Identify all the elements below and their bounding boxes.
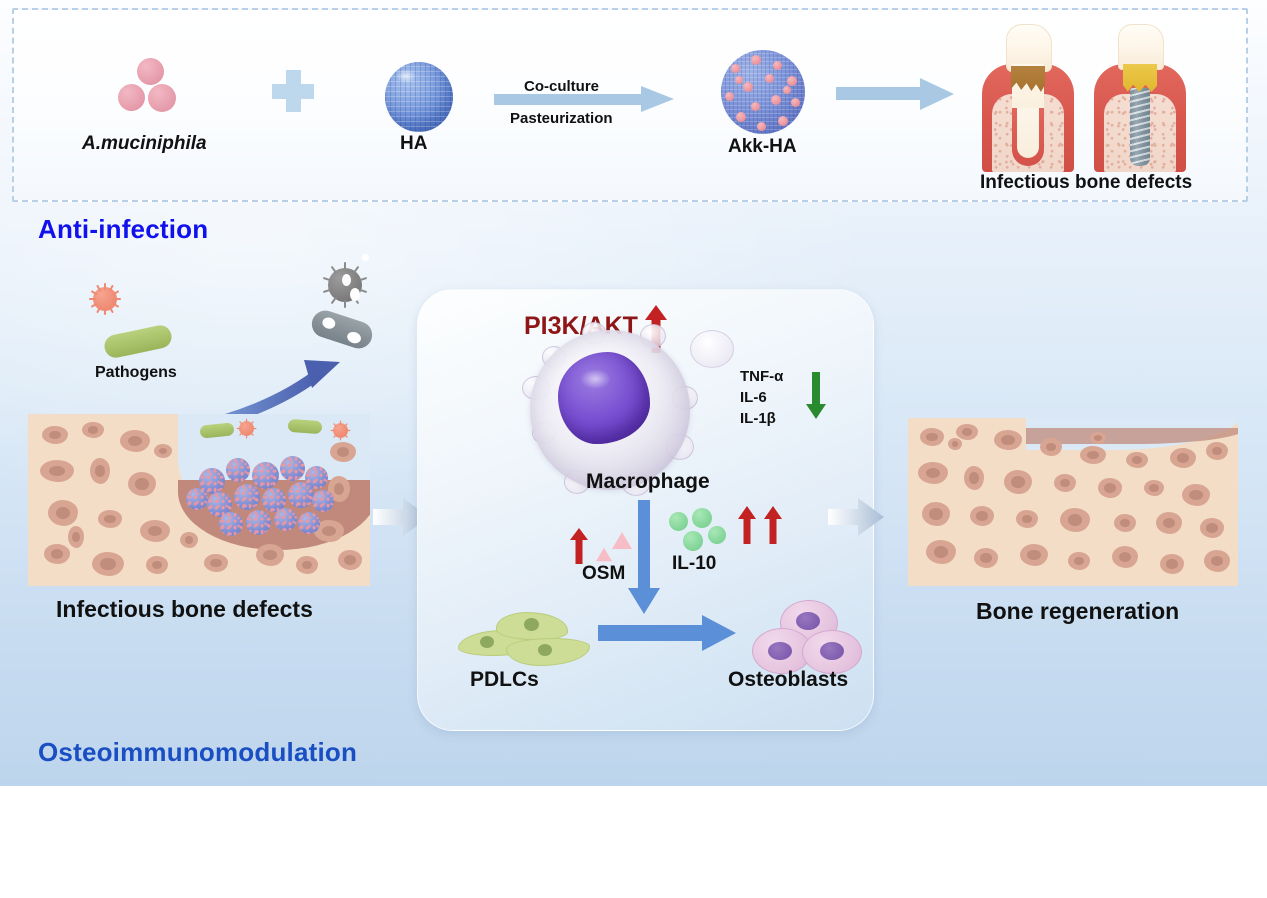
il10-up-arrow-icon [764,506,782,544]
akk-ha-particle-icon [721,50,805,134]
implant-abutment-shape [1123,64,1157,92]
tooth-root-shape [1017,102,1039,158]
osm-up-arrow-icon [570,528,588,564]
cytokine-tnf-alpha: TNF-α [740,366,806,387]
il10-up-arrow-icon [738,506,756,544]
implant-crown-shape [1118,24,1164,70]
plus-icon [272,70,314,112]
il10-label: IL-10 [672,553,716,575]
macrophage-label: Macrophage [586,470,710,494]
il10-molecule-icon [683,531,703,551]
cytokine-il-1beta: IL-1β [740,408,806,429]
pasteurization-label: Pasteurization [510,110,613,127]
section-label-anti-infection: Anti-infection [38,214,208,245]
differentiation-arrow-icon [598,615,740,651]
macrophage-icon [530,330,690,490]
virus-pathogen-icon [236,418,257,439]
osm-label: OSM [582,563,625,585]
pdlc-cells-icon [452,608,602,668]
coccus-shape [137,58,164,85]
il10-molecule-icon [708,526,726,544]
il10-molecule-icon [669,512,688,531]
virus-pathogen-icon [330,420,351,441]
periodontal-defect-tooth-icon [978,22,1078,172]
section-label-osteoimmunomodulation: Osteoimmunomodulation [38,737,357,768]
ha-sphere-icon [385,62,453,132]
a-muciniphila-icon [118,58,184,116]
killed-pathogen-icon [322,262,368,308]
osm-molecule-icon [596,548,612,562]
ha-label: HA [400,133,427,155]
cytokine-down-arrow-icon [806,372,826,420]
signal-down-arrow-icon [628,500,660,618]
pdlcs-label: PDLCs [470,668,539,692]
co-culture-label: Co-culture [524,78,599,95]
osteoblast-cells-icon [752,600,862,676]
top-flow-arrow-icon [836,78,956,110]
right-transition-arrow-icon [828,495,886,539]
il10-molecule-icon [692,508,712,528]
implant-screw-shape [1130,88,1150,166]
virus-pathogen-icon [88,282,122,316]
infectious-bone-defects-label: Infectious bone defects [56,596,313,623]
regenerated-bone-block [908,418,1238,586]
cytokine-il-6: IL-6 [740,387,806,408]
rod-bacterium-icon [288,419,323,434]
osteoblasts-label: Osteoblasts [728,668,848,692]
downregulated-cytokines-list: TNF-α IL-6 IL-1β [740,366,806,428]
vesicle-icon [690,330,734,368]
infectious-bone-defects-top-label: Infectious bone defects [980,172,1192,194]
bubble-icon [362,254,369,261]
akk-ha-label: Akk-HA [728,136,797,158]
coccus-shape [148,84,176,112]
coccus-shape [118,84,145,111]
bone-regeneration-label: Bone regeneration [976,598,1179,625]
a-muciniphila-label: A.muciniphila [82,133,207,155]
graphical-abstract-figure: A.muciniphila HA Co-culture Pasteurizati… [0,0,1267,898]
dental-implant-icon [1090,22,1190,172]
